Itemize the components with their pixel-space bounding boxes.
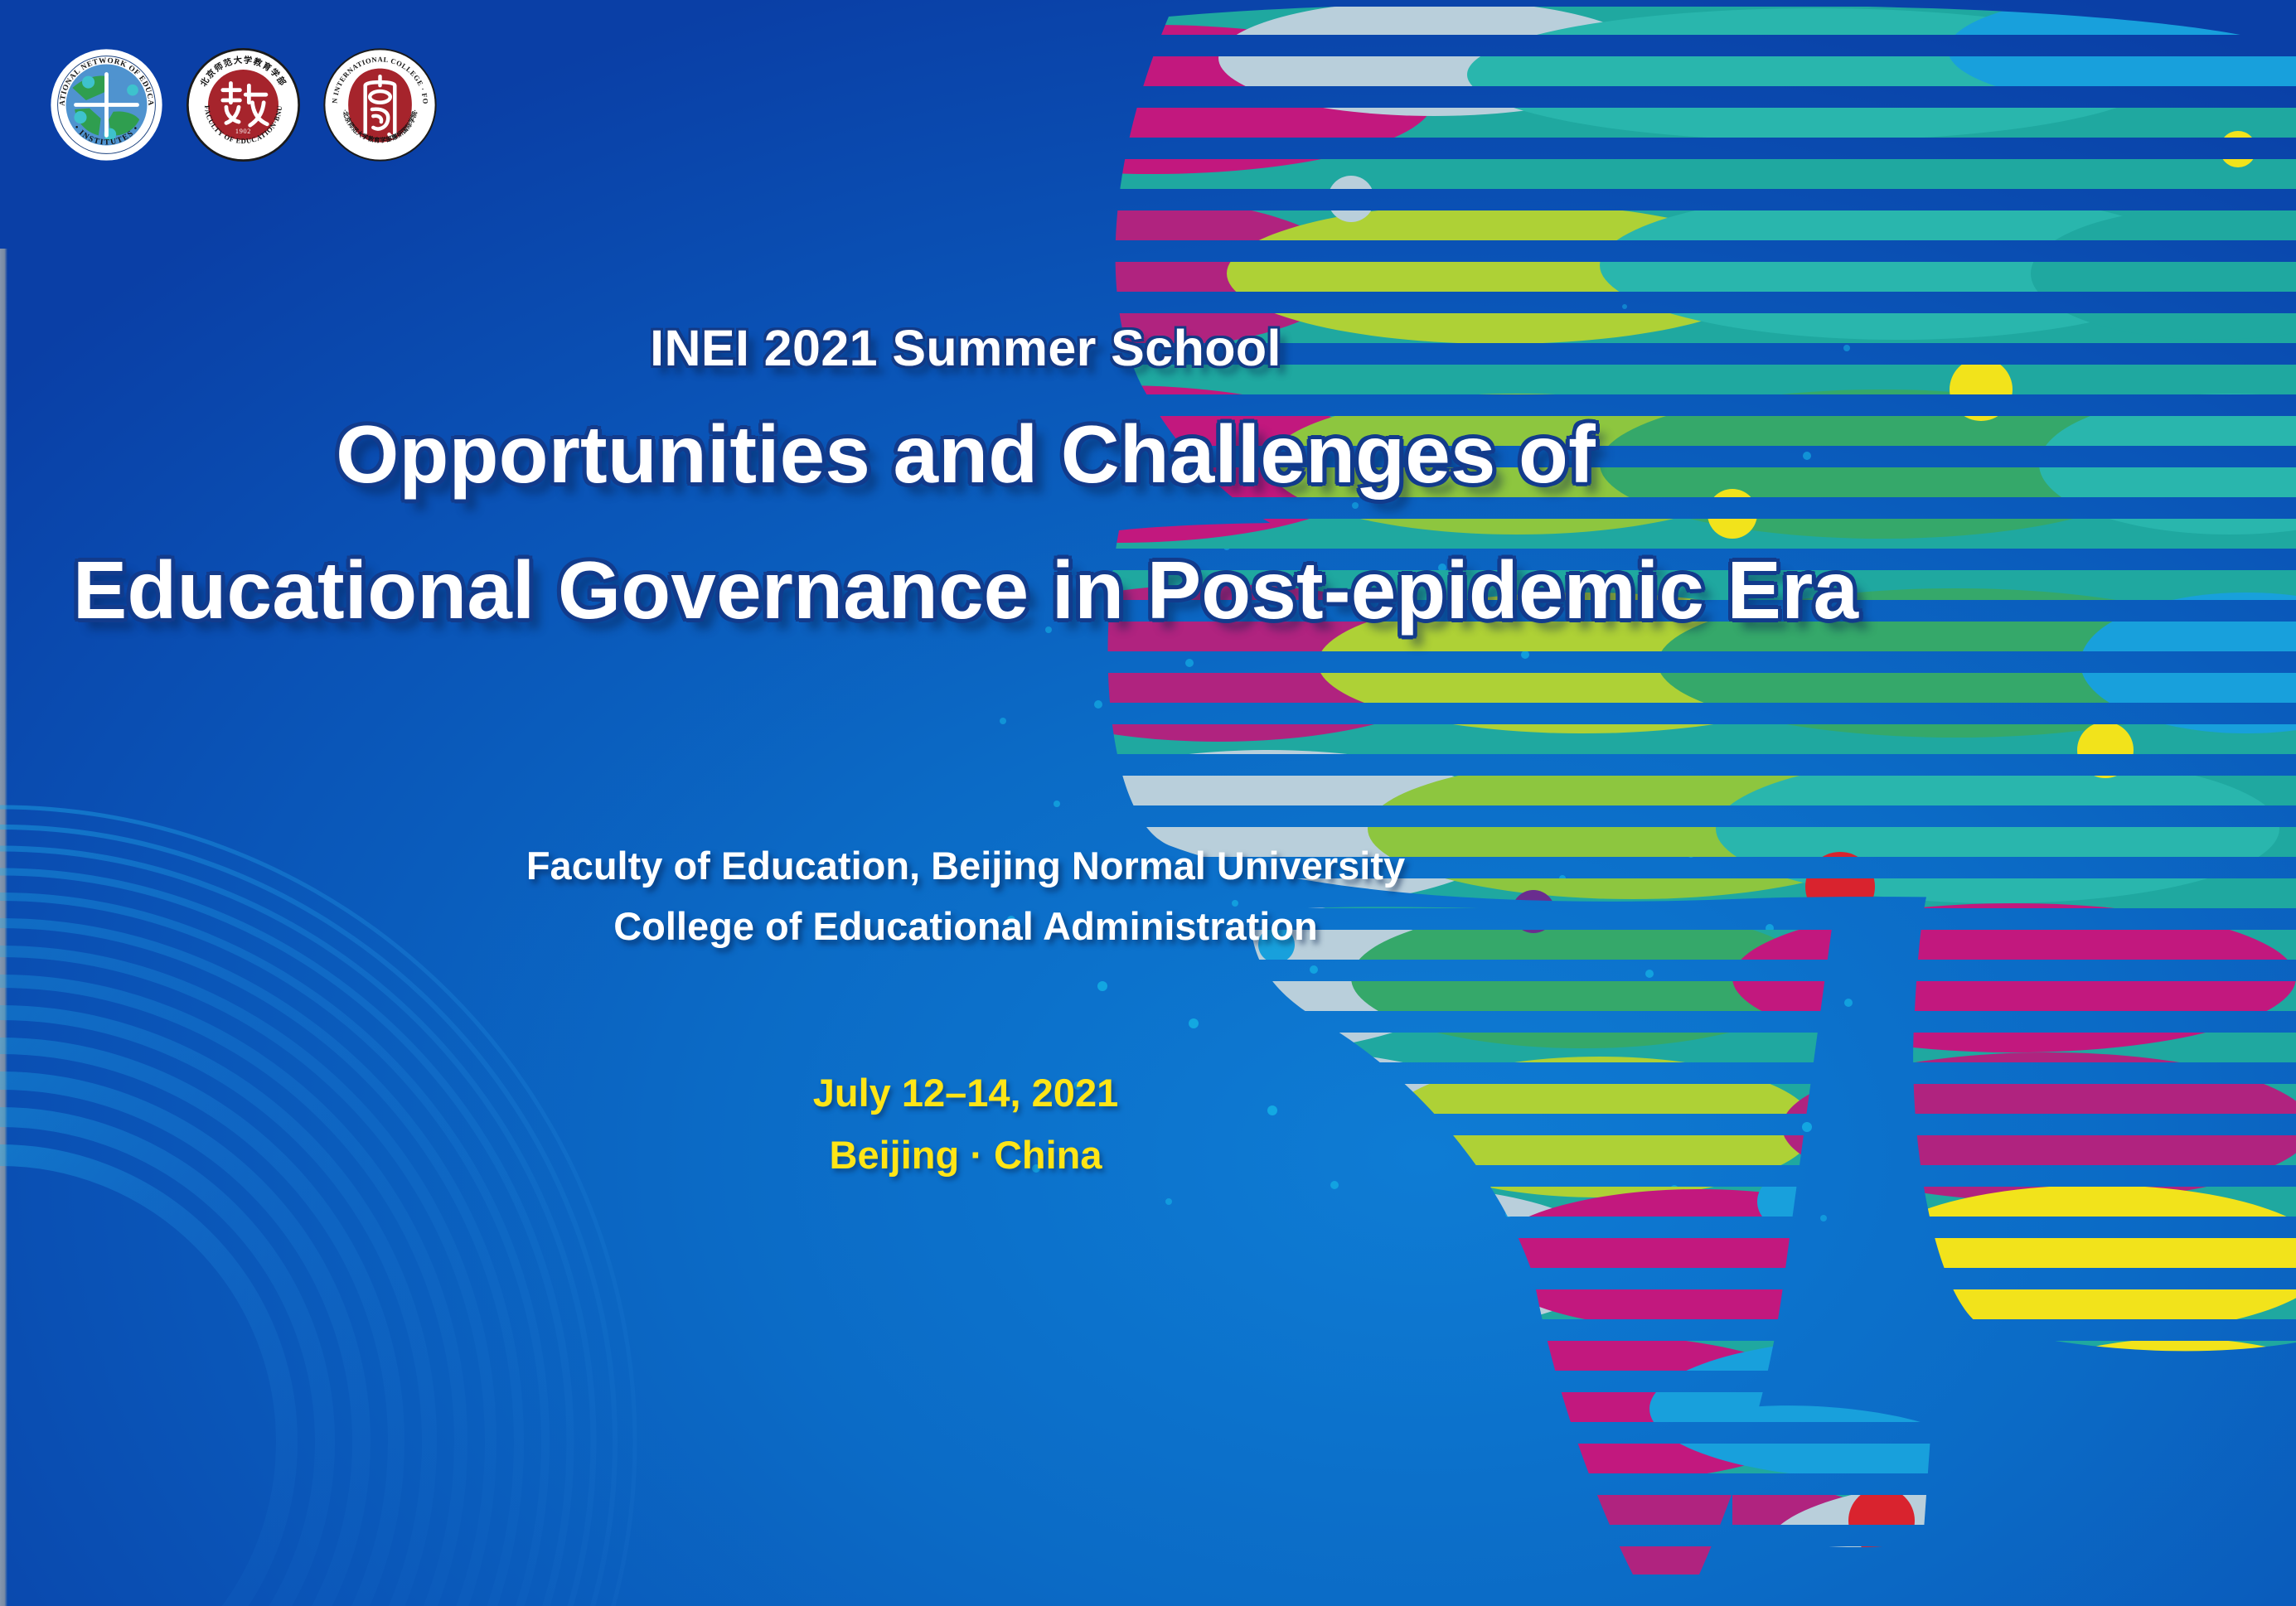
organizer-line-2: College of Educational Administration [613, 903, 1318, 949]
event-date: July 12–14, 2021 [813, 1070, 1118, 1115]
event-location: Beijing · China [830, 1132, 1102, 1178]
headline-line-2: Educational Governance in Post-epidemic … [73, 549, 1858, 631]
conference-poster: INTERNATIONAL NETWORK OF EDUCATIONAL • I… [0, 0, 2296, 1606]
headline-line-1: Opportunities and Challenges of [336, 414, 1596, 495]
event-kicker: INEI 2021 Summer School [650, 319, 1281, 377]
poster-text-block: INEI 2021 Summer School Opportunities an… [0, 0, 1931, 1606]
organizer-line-1: Faculty of Education, Beijing Normal Uni… [526, 843, 1405, 888]
